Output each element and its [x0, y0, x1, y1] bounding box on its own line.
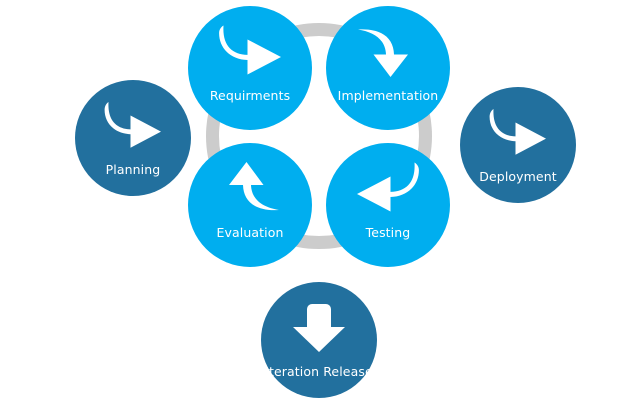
curved-arrow-right-icon	[484, 107, 552, 163]
node-planning[interactable]: Planning	[75, 80, 191, 196]
node-label: Planning	[106, 164, 161, 177]
node-label: Iteration Release	[265, 366, 373, 379]
node-deployment[interactable]: Deployment	[460, 87, 576, 203]
node-testing[interactable]: Testing	[326, 143, 450, 267]
node-label: Testing	[366, 227, 411, 240]
curved-arrow-left-icon	[351, 160, 425, 220]
curved-arrow-up-icon	[213, 160, 287, 220]
node-implementation[interactable]: Implementation	[326, 6, 450, 130]
curved-arrow-right-icon	[99, 100, 167, 156]
node-label: Requirments	[210, 90, 290, 103]
node-label: Implementation	[338, 90, 439, 103]
node-label: Deployment	[479, 171, 556, 184]
node-requirments[interactable]: Requirments	[188, 6, 312, 130]
diagram-canvas: Planning Requirments Implementation Eval…	[0, 0, 640, 411]
node-label: Evaluation	[217, 227, 284, 240]
node-iteration-release[interactable]: Iteration Release	[261, 282, 377, 398]
curved-arrow-right-icon	[213, 23, 287, 83]
arrow-down-icon	[288, 302, 350, 358]
curved-arrow-down-icon	[351, 23, 425, 83]
node-evaluation[interactable]: Evaluation	[188, 143, 312, 267]
